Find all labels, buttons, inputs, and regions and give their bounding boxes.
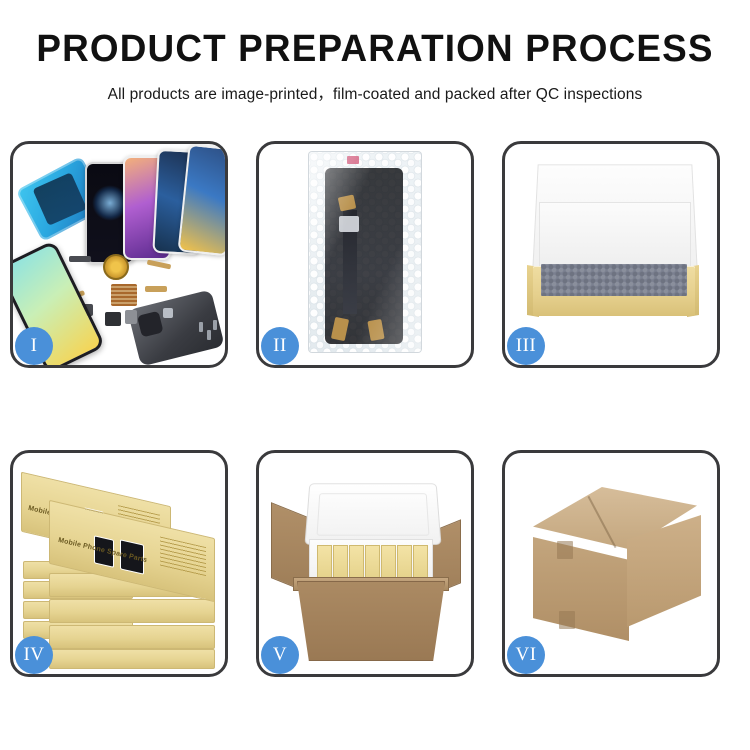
small-part-3	[105, 312, 121, 326]
process-step-panel-4[interactable]: Mobile Phone Spare Parts Mobile Phone Sp…	[10, 450, 228, 677]
retail-box-r4	[49, 649, 215, 669]
carton-tape-lower	[559, 611, 575, 629]
process-step-panel-2[interactable]: II	[256, 141, 474, 368]
screw-1	[199, 322, 203, 332]
page-subtitle: All products are image-printed，film-coat…	[0, 82, 750, 104]
bubble-wrap-bag	[309, 152, 421, 352]
step-badge-5: V	[261, 636, 299, 674]
process-step-grid: I II III	[10, 141, 740, 677]
step-badge-1: I	[15, 327, 53, 365]
screw-2	[207, 330, 211, 340]
step-badge-4: IV	[15, 636, 53, 674]
step-badge-6: VI	[507, 636, 545, 674]
carton-body	[297, 581, 445, 661]
carton-front-face	[533, 537, 629, 641]
logic-board-chip	[111, 284, 137, 306]
screw-3	[213, 320, 217, 330]
bubble-wrap-filling	[541, 264, 687, 296]
small-part-6	[163, 308, 173, 318]
small-part-4	[125, 310, 137, 324]
box-print-lines-b	[160, 536, 206, 577]
process-step-panel-5[interactable]: V	[256, 450, 474, 677]
foam-box-lid	[304, 483, 441, 545]
step-badge-2: II	[261, 327, 299, 365]
phone-back-housing	[127, 289, 224, 365]
page-header: PRODUCT PREPARATION PROCESS All products…	[0, 0, 750, 104]
process-step-panel-6[interactable]: VI	[502, 450, 720, 677]
retail-box-r3	[49, 625, 215, 649]
process-step-panel-3[interactable]: III	[502, 141, 720, 368]
process-step-panel-1[interactable]: I	[10, 141, 228, 368]
retail-box-r2	[49, 599, 215, 623]
step-badge-3: III	[507, 327, 545, 365]
page-title: PRODUCT PREPARATION PROCESS	[11, 30, 739, 68]
plastic-sheen	[309, 152, 421, 352]
wireless-charging-coil	[103, 254, 129, 280]
carton-tape-upper	[557, 541, 573, 559]
small-part-1	[69, 256, 91, 262]
flex-cable-2	[147, 260, 172, 270]
flex-cable-3	[145, 286, 167, 292]
